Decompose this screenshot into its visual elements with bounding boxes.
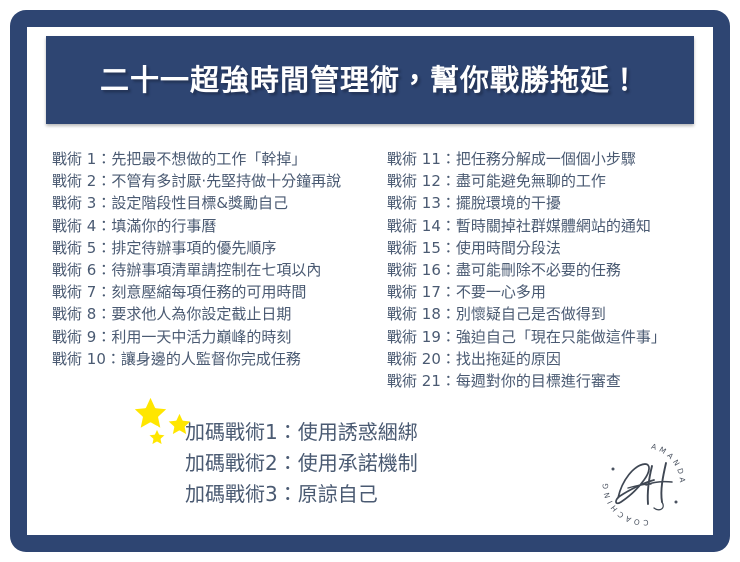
tactic-label: 戰術 xyxy=(52,194,82,212)
tactic-row: 戰術 12：盡可能避免無聊的工作 xyxy=(387,170,697,192)
tactic-number: 5 xyxy=(87,239,97,257)
tactic-number: 3 xyxy=(87,194,97,212)
tactic-label: 戰術 xyxy=(387,172,417,190)
tactic-label: 戰術 xyxy=(387,261,417,279)
tactic-label: 戰術 xyxy=(387,150,417,168)
tactic-number: 15 xyxy=(422,239,441,257)
tactic-row: 戰術 18：別懷疑自己是否做得到 xyxy=(387,303,697,325)
tactic-separator: ： xyxy=(96,239,111,257)
tactic-label: 戰術 xyxy=(52,328,82,346)
tactic-text: 盡可能避免無聊的工作 xyxy=(456,172,606,190)
bonus-text: 使用誘惑綑綁 xyxy=(298,420,418,444)
tactic-number: 12 xyxy=(422,172,441,190)
tactic-text: 使用時間分段法 xyxy=(456,239,561,257)
tactic-label: 戰術 xyxy=(387,305,417,323)
tactic-text: 找出拖延的原因 xyxy=(456,350,561,368)
bonus-row: 加碼戰術3：原諒自己 xyxy=(185,479,565,510)
tactic-row: 戰術 19：強迫自己「現在只能做這件事」 xyxy=(387,326,697,348)
brand-logo: AMANDA HSU COACHING xyxy=(596,436,692,532)
tactic-separator: ： xyxy=(441,350,456,368)
tactic-text: 排定待辦事項的優先順序 xyxy=(111,239,276,257)
tactic-separator: ： xyxy=(441,172,456,190)
tactic-number: 10 xyxy=(87,350,106,368)
tactic-number: 17 xyxy=(422,283,441,301)
tactic-number: 21 xyxy=(422,372,441,390)
tactic-number: 11 xyxy=(422,150,441,168)
bonus-tactics-list: 加碼戰術1：使用誘惑綑綁 加碼戰術2：使用承諾機制 加碼戰術3：原諒自己 xyxy=(185,417,565,510)
tactic-number: 19 xyxy=(422,328,441,346)
tactic-row: 戰術 9：利用一天中活力巔峰的時刻 xyxy=(52,326,392,348)
tactics-columns: 戰術 1：先把最不想做的工作「幹掉」 戰術 2：不管有多討厭‧先堅持做十分鐘再說… xyxy=(52,148,692,388)
tactic-number: 8 xyxy=(87,305,97,323)
tactic-separator: ： xyxy=(96,328,111,346)
tactic-text: 強迫自己「現在只能做這件事」 xyxy=(456,328,666,346)
tactic-separator: ： xyxy=(441,194,456,212)
tactic-text: 每週對你的目標進行審查 xyxy=(456,372,621,390)
tactic-separator: ： xyxy=(96,261,111,279)
tactic-number: 4 xyxy=(87,217,97,235)
logo-dot-icon xyxy=(675,501,678,504)
tactic-number: 14 xyxy=(422,217,441,235)
tactic-label: 戰術 xyxy=(52,261,82,279)
tactic-number: 16 xyxy=(422,261,441,279)
tactic-row: 戰術 10：讓身邊的人監督你完成任務 xyxy=(52,348,392,370)
bonus-text: 使用承諾機制 xyxy=(298,451,418,475)
tactic-separator: ： xyxy=(96,283,111,301)
bonus-text: 原諒自己 xyxy=(298,482,378,506)
tactic-row: 戰術 20：找出拖延的原因 xyxy=(387,348,697,370)
tactic-text: 刻意壓縮每項任務的可用時間 xyxy=(111,283,306,301)
tactic-row: 戰術 21：每週對你的目標進行審查 xyxy=(387,370,697,392)
tactic-text: 填滿你的行事曆 xyxy=(111,217,216,235)
tactic-number: 1 xyxy=(87,150,97,168)
tactic-number: 13 xyxy=(422,194,441,212)
tactic-label: 戰術 xyxy=(387,350,417,368)
tactic-label: 戰術 xyxy=(387,328,417,346)
logo-top-arc-text: AMANDA HSU xyxy=(596,436,687,486)
tactic-number: 7 xyxy=(87,283,97,301)
tactic-text: 把任務分解成一個個小步驟 xyxy=(456,150,636,168)
tactic-number: 20 xyxy=(422,350,441,368)
tactic-separator: ： xyxy=(96,172,111,190)
tactic-separator: ： xyxy=(96,217,111,235)
tactics-right-column: 戰術 11：把任務分解成一個個小步驟 戰術 12：盡可能避免無聊的工作 戰術 1… xyxy=(387,148,697,392)
poster-title: 二十一超強時間管理術，幫你戰勝拖延！ xyxy=(100,66,640,95)
bonus-label: 加碼戰術1： xyxy=(185,420,298,444)
logo-dot-icon xyxy=(612,468,615,471)
tactic-label: 戰術 xyxy=(387,372,417,390)
tactic-text: 要求他人為你設定截止日期 xyxy=(111,305,291,323)
logo-bottom-arc-text: COACHING xyxy=(601,480,649,527)
tactic-label: 戰術 xyxy=(387,239,417,257)
tactic-separator: ： xyxy=(441,217,456,235)
tactic-label: 戰術 xyxy=(52,283,82,301)
tactic-separator: ： xyxy=(96,150,111,168)
tactic-row: 戰術 7：刻意壓縮每項任務的可用時間 xyxy=(52,281,392,303)
tactic-separator: ： xyxy=(96,305,111,323)
tactic-row: 戰術 1：先把最不想做的工作「幹掉」 xyxy=(52,148,392,170)
bonus-label: 加碼戰術3： xyxy=(185,482,298,506)
tactic-row: 戰術 16：盡可能刪除不必要的任務 xyxy=(387,259,697,281)
tactic-row: 戰術 2：不管有多討厭‧先堅持做十分鐘再說 xyxy=(52,170,392,192)
tactic-number: 18 xyxy=(422,305,441,323)
tactic-label: 戰術 xyxy=(52,305,82,323)
tactic-row: 戰術 4：填滿你的行事曆 xyxy=(52,215,392,237)
tactic-text: 暫時關掉社群媒體網站的通知 xyxy=(456,217,651,235)
tactic-separator: ： xyxy=(441,305,456,323)
tactic-row: 戰術 11：把任務分解成一個個小步驟 xyxy=(387,148,697,170)
tactic-text: 讓身邊的人監督你完成任務 xyxy=(121,350,301,368)
tactic-row: 戰術 13：擺脫環境的干擾 xyxy=(387,192,697,214)
tactic-row: 戰術 5：排定待辦事項的優先順序 xyxy=(52,237,392,259)
tactic-row: 戰術 3：設定階段性目標&獎勵自己 xyxy=(52,192,392,214)
bonus-label: 加碼戰術2： xyxy=(185,451,298,475)
tactic-label: 戰術 xyxy=(52,150,82,168)
tactic-separator: ： xyxy=(441,372,456,390)
bonus-row: 加碼戰術1：使用誘惑綑綁 xyxy=(185,417,565,448)
tactic-separator: ： xyxy=(96,194,111,212)
tactic-row: 戰術 15：使用時間分段法 xyxy=(387,237,697,259)
logo-monogram-icon xyxy=(616,463,672,510)
tactic-separator: ： xyxy=(441,150,456,168)
tactic-row: 戰術 17：不要一心多用 xyxy=(387,281,697,303)
tactic-label: 戰術 xyxy=(52,217,82,235)
tactic-number: 6 xyxy=(87,261,97,279)
title-bar: 二十一超強時間管理術，幫你戰勝拖延！ xyxy=(46,36,694,124)
tactic-text: 待辦事項清單請控制在七項以內 xyxy=(111,261,321,279)
tactic-number: 2 xyxy=(87,172,97,190)
tactic-text: 利用一天中活力巔峰的時刻 xyxy=(111,328,291,346)
tactic-text: 別懷疑自己是否做得到 xyxy=(456,305,606,323)
tactic-number: 9 xyxy=(87,328,97,346)
tactic-label: 戰術 xyxy=(387,283,417,301)
tactics-left-column: 戰術 1：先把最不想做的工作「幹掉」 戰術 2：不管有多討厭‧先堅持做十分鐘再說… xyxy=(52,148,392,370)
tactic-text: 不管有多討厭‧先堅持做十分鐘再說 xyxy=(111,172,341,190)
poster-canvas: 二十一超強時間管理術，幫你戰勝拖延！ 戰術 1：先把最不想做的工作「幹掉」 戰術… xyxy=(0,0,740,562)
tactic-row: 戰術 6：待辦事項清單請控制在七項以內 xyxy=(52,259,392,281)
tactic-label: 戰術 xyxy=(52,172,82,190)
tactic-row: 戰術 14：暫時關掉社群媒體網站的通知 xyxy=(387,215,697,237)
tactic-label: 戰術 xyxy=(387,194,417,212)
tactic-separator: ： xyxy=(441,283,456,301)
tactic-separator: ： xyxy=(441,261,456,279)
tactic-separator: ： xyxy=(441,239,456,257)
tactic-text: 擺脫環境的干擾 xyxy=(456,194,561,212)
tactic-text: 盡可能刪除不必要的任務 xyxy=(456,261,621,279)
tactic-row: 戰術 8：要求他人為你設定截止日期 xyxy=(52,303,392,325)
bonus-row: 加碼戰術2：使用承諾機制 xyxy=(185,448,565,479)
tactic-text: 先把最不想做的工作「幹掉」 xyxy=(111,150,306,168)
tactic-separator: ： xyxy=(441,328,456,346)
tactic-label: 戰術 xyxy=(52,239,82,257)
tactic-label: 戰術 xyxy=(52,350,82,368)
tactic-label: 戰術 xyxy=(387,217,417,235)
tactic-text: 設定階段性目標&獎勵自己 xyxy=(111,194,288,212)
tactic-separator: ： xyxy=(106,350,121,368)
tactic-text: 不要一心多用 xyxy=(456,283,546,301)
